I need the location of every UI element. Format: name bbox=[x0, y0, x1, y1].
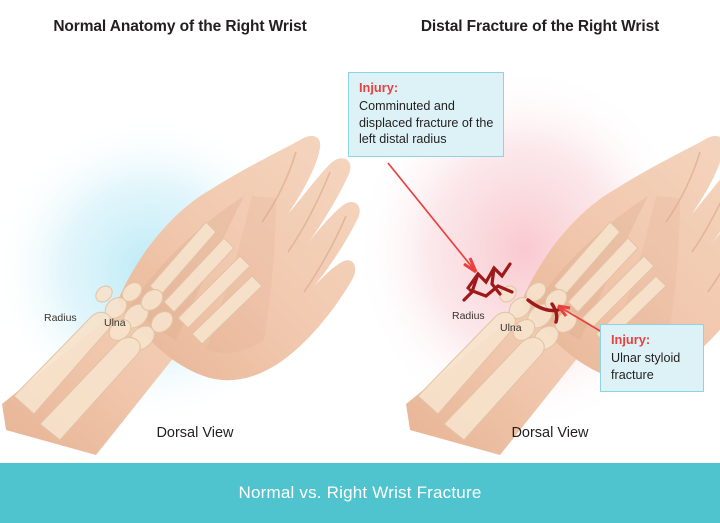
bone-label-ulna-fracture: Ulna bbox=[500, 322, 522, 334]
callout-leader-radius bbox=[388, 163, 476, 272]
view-caption-fracture: Dorsal View bbox=[400, 425, 700, 441]
right-hand-illustration bbox=[406, 136, 720, 455]
callout-box-ulna-injury: Injury: Ulnar styloid fracture bbox=[600, 324, 704, 392]
callout-heading-injury: Injury: bbox=[611, 332, 694, 349]
bone-label-ulna-normal: Ulna bbox=[104, 317, 126, 329]
footer-banner-text: Normal vs. Right Wrist Fracture bbox=[239, 483, 482, 503]
bone-label-radius-normal: Radius bbox=[44, 312, 77, 324]
bone-label-radius-fracture: Radius bbox=[452, 310, 485, 322]
callout-box-radius-injury: Injury: Comminuted and displaced fractur… bbox=[348, 72, 504, 157]
footer-banner: Normal vs. Right Wrist Fracture bbox=[0, 463, 720, 523]
left-panel-glow bbox=[0, 115, 310, 425]
callout-heading-injury: Injury: bbox=[359, 80, 494, 97]
left-hand-illustration bbox=[2, 136, 360, 455]
illustration-canvas: Normal Anatomy of the Right Wrist Distal… bbox=[0, 0, 720, 523]
view-caption-normal: Dorsal View bbox=[30, 425, 360, 441]
callout-text-radius: Comminuted and displaced fracture of the… bbox=[359, 98, 494, 148]
ulna-fracture-line bbox=[528, 300, 558, 322]
panel-title-fracture: Distal Fracture of the Right Wrist bbox=[360, 18, 720, 36]
panel-title-normal: Normal Anatomy of the Right Wrist bbox=[0, 18, 360, 36]
radius-fracture-lines bbox=[464, 264, 512, 300]
callout-text-ulna: Ulnar styloid fracture bbox=[611, 350, 694, 383]
